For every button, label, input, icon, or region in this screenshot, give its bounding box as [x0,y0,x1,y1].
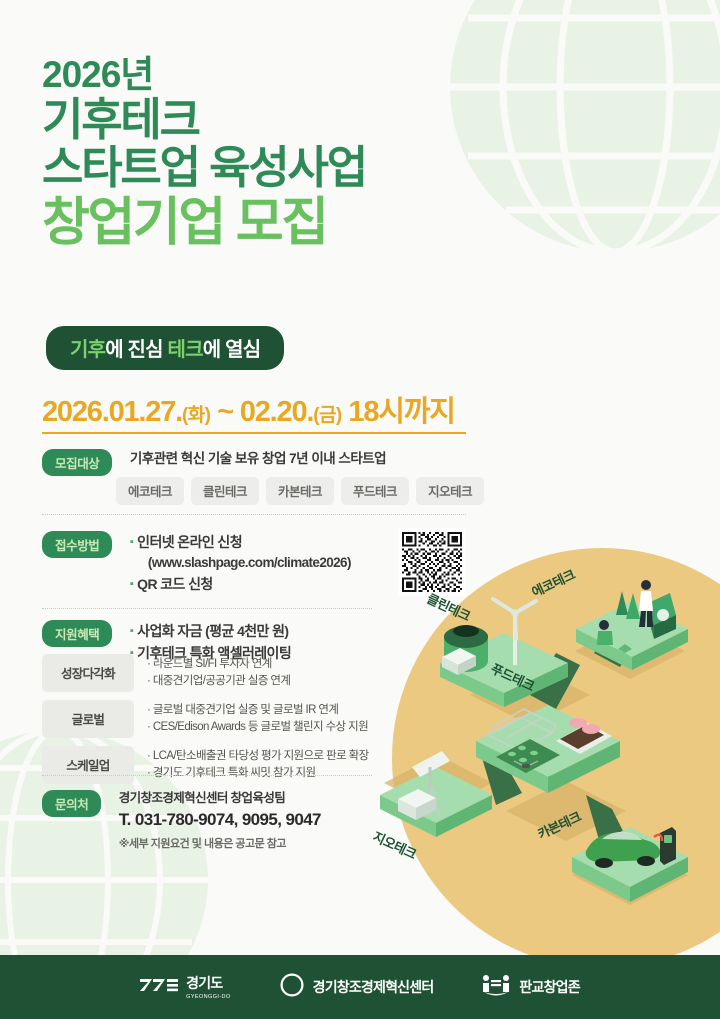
pangyo-people-icon [481,973,511,1002]
platform-ecotech [576,580,688,670]
date-underline [42,432,466,434]
ccei-circle-icon [279,972,305,1003]
illustration-label-ecotech: 에코테크 [528,564,578,601]
section-label-contact: 문의처 [42,790,101,817]
logo-name: 판교창업존 [519,980,579,995]
benefit-item: 라운드별 SI/FI 투자자 연계 [147,656,290,673]
apply-bullet-online: ▪인터넷 온라인 신청 [130,531,351,553]
logo-ccei: 경기창조경제혁신센터 [279,972,434,1003]
date-start: 2026.01.27. [42,396,182,428]
tagline-part-4: 에 열심 [203,339,261,361]
tag-ecotech: 에코테크 [116,477,184,505]
divider-1 [42,514,466,515]
tagline-part-1: 기후 [70,339,105,361]
logo-text-block: 경기도 GYEONGGI-DO [186,975,230,1000]
logo-name: 경기창조경제혁신센터 [313,980,434,995]
benefit-row: 스케일업 LCA/탄소배출권 타당성 평가 지원으로 판로 확장 경기도 기후테… [42,746,369,784]
page-title: 2026년 기후테크 스타트업 육성사업 창업기업 모집 [42,55,542,252]
headline-line-1: 기후테크 [42,96,542,144]
section-apply: 접수방법 ▪인터넷 온라인 신청 (www.slashpage.com/clim… [42,531,351,595]
qr-code[interactable] [398,528,466,596]
target-description: 기후관련 혁신 기술 보유 창업 7년 이내 스타트업 [130,451,386,466]
contact-note: ※세부 지원요건 및 내용은 공고문 참고 [119,835,321,851]
logo-pangyo: 판교창업존 [481,973,579,1002]
illustration-label-carbontech: 카본테크 [534,806,584,843]
date-end: 02.20. [240,396,313,428]
divider-2 [42,608,372,609]
logo-subtitle: GYEONGGI-DO [186,994,230,1000]
benefit-item: 경기도 기후테크 특화 씨밋 참가 지원 [147,765,369,782]
headline-line-2: 스타트업 육성사업 [42,144,542,192]
benefit-row: 성장다각화 라운드별 SI/FI 투자자 연계 대중견기업/공공기관 실증 연계 [42,654,369,692]
benefit-row-label: 성장다각화 [42,654,134,692]
date-deadline: 18시까지 [342,396,455,428]
section-contact: 문의처 경기창조경제혁신센터 창업육성팀 T. 031-780-9074, 90… [42,790,321,851]
target-tag-list: 에코테크 클린테크 카본테크 푸드테크 지오테크 [116,477,484,505]
tag-cleantech: 클린테크 [191,477,259,505]
benefit-item: LCA/탄소배출권 타당성 평가 지원으로 판로 확장 [147,748,369,765]
benefit-item: CES/Edison Awards 등 글로벌 챌린지 수상 지원 [147,719,368,736]
apply-bullet-qr: ▪QR 코드 신청 [130,573,351,595]
date-start-day: (화) [182,405,210,426]
benefit-row-description: 라운드별 SI/FI 투자자 연계 대중견기업/공공기관 실증 연계 [147,656,290,689]
benefit-row-label: 스케일업 [42,746,134,784]
headline-year: 2026년 [42,55,542,94]
qr-code-icon [402,532,462,592]
tagline-part-3: 테크 [168,339,203,361]
bullet-dot-icon: ▪ [130,625,133,637]
illustration-svg [380,545,720,945]
benefit-row: 글로벌 글로벌 대중견기업 실증 및 글로벌 IR 연계 CES/Edison … [42,700,369,738]
section-contact-body: 경기창조경제혁신센터 창업육성팀 T. 031-780-9074, 9095, … [119,790,321,851]
section-label-apply: 접수방법 [42,531,112,558]
benefit-bullet-funding: ▪사업화 자금 (평균 4천만 원) [130,620,291,642]
tag-carbontech: 카본테크 [266,477,334,505]
benefit-row-description: 글로벌 대중견기업 실증 및 글로벌 IR 연계 CES/Edison Awar… [147,702,368,735]
benefit-row-description: LCA/탄소배출권 타당성 평가 지원으로 판로 확장 경기도 기후테크 특화 … [147,748,369,781]
tag-foodtech: 푸드테크 [341,477,409,505]
divider-3 [42,775,372,776]
platform-geotech [380,751,492,837]
illustration-label-foodtech: 푸드테크 [488,658,538,695]
benefit-row-label: 글로벌 [42,700,134,738]
section-label-target: 모집대상 [42,449,112,476]
bullet-dot-icon: ▪ [130,578,133,590]
tagline-part-2: 에 진심 [105,339,167,361]
logo-name: 경기도 [186,975,222,991]
poster-canvas: 2026년 기후테크 스타트업 육성사업 창업기업 모집 기후에 진심 테크에 … [0,0,720,1019]
apply-url[interactable]: (www.slashpage.com/climate2026) [148,553,351,573]
date-tilde: ~ [210,396,239,428]
benefit-item: 대중견기업/공공기관 실증 연계 [147,673,290,690]
contact-organization: 경기창조경제혁신센터 창업육성팀 [119,790,321,808]
section-label-benefits: 지원혜택 [42,620,112,647]
logo-gyeonggi-do: 경기도 GYEONGGI-DO [140,975,230,1000]
platform-cleantech [440,599,568,707]
footer-logo-bar: 경기도 GYEONGGI-DO 경기창조경제혁신센터 [0,955,720,1019]
tag-geotech: 지오테크 [416,477,484,505]
isometric-climate-tech-illustration: 클린테크 에코테크 푸드테크 카본테크 지오테크 [380,545,720,945]
headline-line-3: 창업기업 모집 [42,195,542,252]
gyeonggi-mark-icon [140,975,178,1000]
contact-telephone: T. 031-780-9074, 9095, 9047 [119,809,321,832]
benefit-item: 글로벌 대중견기업 실증 및 글로벌 IR 연계 [147,702,368,719]
section-target: 모집대상 기후관련 혁신 기술 보유 창업 7년 이내 스타트업 [42,449,386,476]
date-end-day: (금) [313,405,341,426]
section-target-body: 기후관련 혁신 기술 보유 창업 7년 이내 스타트업 [130,449,386,469]
section-apply-body: ▪인터넷 온라인 신청 (www.slashpage.com/climate20… [130,531,351,595]
bullet-dot-icon: ▪ [130,536,133,548]
platform-carbontech [572,827,688,902]
platform-foodtech [476,705,620,793]
benefit-row-list: 성장다각화 라운드별 SI/FI 투자자 연계 대중견기업/공공기관 실증 연계… [42,654,369,792]
application-period: 2026.01.27.(화) ~ 02.20.(금) 18시까지 [42,388,455,430]
illustration-label-geotech: 지오테크 [370,826,420,863]
tagline-badge: 기후에 진심 테크에 열심 [46,326,284,370]
